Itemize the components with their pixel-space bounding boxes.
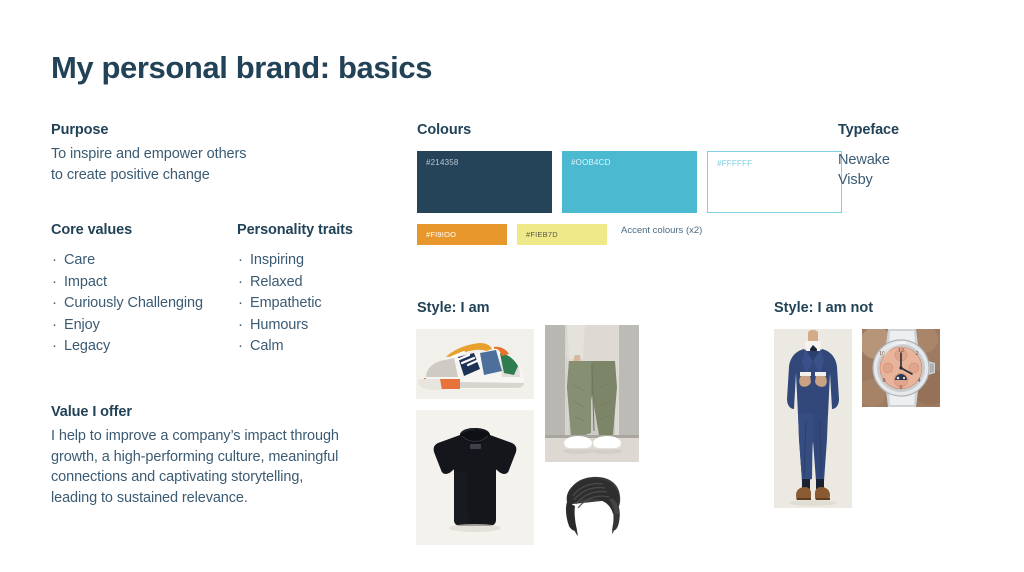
typeface-name: Newake — [838, 150, 899, 170]
personality-traits-column: Personality traits Inspiring Relaxed Emp… — [237, 222, 401, 358]
svg-text:8: 8 — [883, 378, 886, 384]
list-item: Humours — [237, 315, 401, 336]
list-item: Calm — [237, 336, 401, 357]
personality-traits-heading: Personality traits — [237, 222, 401, 238]
image-luxury-silver-watch: 12 2 4 6 8 10 — [862, 329, 940, 407]
style-i-am-heading: Style: I am — [417, 300, 490, 316]
svg-text:4: 4 — [918, 378, 921, 384]
list-item: Inspiring — [237, 250, 401, 271]
list-item: Care — [51, 250, 237, 271]
value-offer-heading: Value I offer — [51, 404, 351, 420]
style-i-am-section: Style: I am — [417, 300, 490, 316]
purpose-section: Purpose To inspire and empower others to… — [51, 122, 381, 186]
primary-swatch-row: #214358 #OOB4CD #FFFFFF — [417, 151, 842, 213]
typeface-list: Newake Visby — [838, 150, 899, 190]
style-i-am-not-section: Style: I am not — [774, 300, 873, 316]
image-olive-chinos-white-trainers — [545, 325, 639, 462]
image-colorful-sneaker — [416, 329, 534, 399]
swatch-hex-label: #FI9IOO — [426, 230, 456, 239]
purpose-body: To inspire and empower others to create … — [51, 144, 381, 186]
value-offer-body: I help to improve a company’s impact thr… — [51, 426, 351, 508]
list-item: Legacy — [51, 336, 237, 357]
purpose-line-2: to create positive change — [51, 165, 381, 186]
colours-section: Colours #214358 #OOB4CD #FFFFFF #FI9IOO … — [417, 122, 842, 245]
swatch-hex-label: #214358 — [426, 158, 459, 167]
core-values-list: Care Impact Curiously Challenging Enjoy … — [51, 250, 237, 357]
typeface-heading: Typeface — [838, 122, 899, 138]
image-navy-three-piece-suit — [774, 329, 852, 508]
page-title: My personal brand: basics — [51, 50, 432, 86]
value-offer-section: Value I offer I help to improve a compan… — [51, 404, 351, 508]
svg-text:2: 2 — [916, 351, 919, 357]
colours-heading: Colours — [417, 122, 842, 138]
core-values-heading: Core values — [51, 222, 237, 238]
list-item: Impact — [51, 272, 237, 293]
svg-text:6: 6 — [900, 385, 903, 391]
style-i-am-not-heading: Style: I am not — [774, 300, 873, 316]
list-item: Curiously Challenging — [51, 293, 237, 314]
slide-canvas: My personal brand: basics Purpose To ins… — [0, 0, 1024, 572]
image-dark-quiff-hair — [553, 470, 631, 538]
colour-swatch-white: #FFFFFF — [707, 151, 842, 213]
image-black-tshirt — [416, 410, 534, 545]
accent-swatch-orange: #FI9IOO — [417, 224, 507, 245]
purpose-heading: Purpose — [51, 122, 381, 138]
core-values-column: Core values Care Impact Curiously Challe… — [51, 222, 237, 358]
values-traits-section: Core values Care Impact Curiously Challe… — [51, 222, 401, 358]
list-item: Relaxed — [237, 272, 401, 293]
colour-swatch-navy: #214358 — [417, 151, 552, 213]
accent-swatch-row: #FI9IOO #FIEB7D Accent colours (x2) — [417, 224, 842, 245]
typeface-section: Typeface Newake Visby — [838, 122, 899, 190]
accent-swatch-yellow: #FIEB7D — [517, 224, 607, 245]
purpose-line-1: To inspire and empower others — [51, 144, 381, 165]
swatch-hex-label: #OOB4CD — [571, 158, 611, 167]
swatch-hex-label: #FIEB7D — [526, 230, 558, 239]
accent-colours-note: Accent colours (x2) — [621, 225, 702, 236]
list-item: Enjoy — [51, 315, 237, 336]
list-item: Empathetic — [237, 293, 401, 314]
typeface-name: Visby — [838, 170, 899, 190]
swatch-hex-label: #FFFFFF — [717, 159, 752, 168]
personality-traits-list: Inspiring Relaxed Empathetic Humours Cal… — [237, 250, 401, 357]
colour-swatch-cyan: #OOB4CD — [562, 151, 697, 213]
